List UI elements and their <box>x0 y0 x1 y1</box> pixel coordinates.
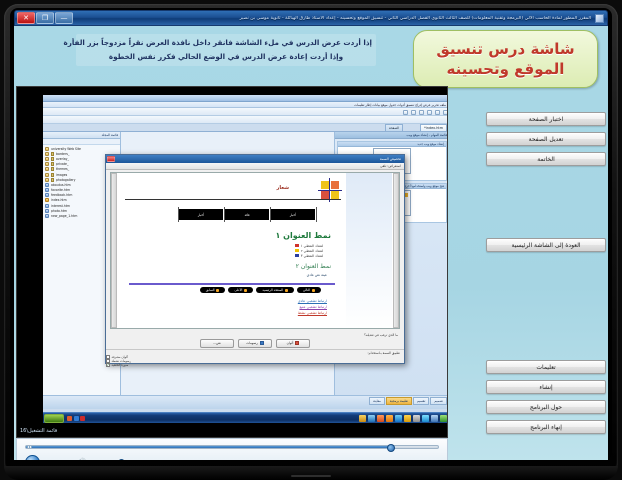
preview-content: شعار أخبار قائد أخبار نم <box>119 173 345 328</box>
html-file-icon <box>45 183 49 187</box>
tray-icon[interactable] <box>404 415 411 422</box>
tray-icon[interactable] <box>413 415 420 422</box>
tray-icon[interactable] <box>377 415 384 422</box>
app-root: ✕ ❐ — المقرر المطور لمادة الحاسب الآلي (… <box>0 0 622 480</box>
pill-nav-item[interactable]: السابق <box>200 287 226 293</box>
quick-launch-bar <box>67 416 85 421</box>
folder-icon <box>45 178 49 182</box>
file-name: university Web Site <box>51 147 81 151</box>
logo-text: شعار <box>277 185 290 191</box>
toolbar-icon[interactable] <box>443 110 448 115</box>
pill-label: الأعلى <box>234 288 242 292</box>
folder-icon <box>45 167 49 171</box>
mute-icon[interactable]: 🔊 <box>78 459 87 460</box>
lock-icon <box>51 173 54 177</box>
toolbar-icon[interactable] <box>435 110 440 115</box>
file-name: interest.htm <box>51 204 70 208</box>
checkbox-icon[interactable] <box>106 355 110 359</box>
nav-item[interactable]: قائد <box>225 209 269 220</box>
view-mode-tabs: تصميم تقسيم تعليمة برمجية معاينة <box>369 397 447 405</box>
file-name: photogallery <box>56 178 76 182</box>
seek-progress <box>26 446 389 448</box>
folder-icon <box>45 147 49 151</box>
quick-launch-icon[interactable] <box>80 416 85 421</box>
html-file-icon <box>45 188 49 192</box>
toolbar-icon[interactable] <box>403 110 408 115</box>
window-title: المقرر المطور لمادة الحاسب الآلي (البرمج… <box>73 16 595 21</box>
dialog-titlebar: تخصيص السمة <box>106 155 404 163</box>
window-titlebar: ✕ ❐ — المقرر المطور لمادة الحاسب الآلي (… <box>14 10 608 26</box>
quick-launch-icon[interactable] <box>74 416 79 421</box>
instructions-line-2: وإذا أردت إعادة عرض الدرس في الوضع الحال… <box>80 50 372 64</box>
home-page-icon <box>45 198 49 202</box>
device-notch <box>291 475 331 477</box>
tab-design[interactable]: تصميم <box>430 397 447 405</box>
theme-preview-area: شعار أخبار قائد أخبار نم <box>110 172 400 329</box>
file-name: photo.htm <box>51 209 67 213</box>
document-tab-other[interactable]: الصفحة <box>385 124 403 131</box>
file-name: new_page_1.htm <box>51 214 77 218</box>
tray-icon[interactable] <box>368 415 375 422</box>
file-name: aboutus.htm <box>51 183 71 187</box>
video-display[interactable]: ملف تحرير عرض إدراج تنسيق أدوات جدول موق… <box>16 86 448 438</box>
sidebar-group-bottom: تعليمات إنشاء حول البرنامج إنهاء البرنام… <box>486 360 606 440</box>
device-chin <box>4 466 618 480</box>
normal-text-sample: عينة نص عادي <box>307 273 327 277</box>
theme-dialog[interactable]: تخصيص السمة استعراض: تلقي <box>105 154 405 364</box>
close-icon[interactable]: ✕ <box>17 12 35 24</box>
conclusion-button[interactable]: الخاتمة <box>486 152 606 166</box>
text-button[interactable]: نص... <box>200 339 234 348</box>
folder-icon <box>45 173 49 177</box>
document-tab-active[interactable]: index.htm* <box>420 124 447 131</box>
task-pane-header: قائمة المهام - إنشاء موقع ويب <box>335 132 448 139</box>
maximize-icon[interactable]: ❐ <box>36 12 54 24</box>
html-file-icon <box>45 214 49 218</box>
file-name: images <box>56 173 67 177</box>
file-name: _borders <box>56 152 69 156</box>
tab-split[interactable]: تقسيم <box>413 397 429 405</box>
heading-2-sample: نمط العنوان ٢ <box>296 263 331 270</box>
lock-icon <box>51 178 54 182</box>
help-button[interactable]: تعليمات <box>486 360 606 374</box>
scrollbar-right[interactable] <box>393 173 399 328</box>
hyperlink-active[interactable]: ارتباط تشعبي نشط <box>298 311 327 317</box>
callout-line-2: الموقع وتحسينه <box>447 59 565 79</box>
control-sidebar: اختبار الصفحة تعديل الصفحة الخاتمة العود… <box>486 88 606 458</box>
pill-label: الصفحة الرئيسية <box>262 288 283 292</box>
file-name: _private <box>56 162 69 166</box>
seek-handle[interactable] <box>387 444 395 452</box>
pill-label: السابق <box>206 288 215 292</box>
bullet-label: لتعداد النقطي ٢ <box>301 249 323 253</box>
checkbox-icon-checked[interactable] <box>106 363 110 367</box>
preview-sidebar <box>346 173 392 328</box>
dialog-options: تطبيق السمة بـاستخدام: ألوان مشرقة رسوما… <box>106 349 404 363</box>
seek-slider[interactable] <box>25 445 439 449</box>
file-name: favorite.htm <box>51 188 70 192</box>
checkbox-background-image[interactable]: صورة الخلفية <box>106 363 400 367</box>
dialog-toolbar[interactable]: استعراض: تلقي <box>106 163 404 170</box>
inner-app-titlebar <box>43 95 448 102</box>
pill-label: التالي <box>303 288 310 292</box>
nav-item[interactable]: أخبار <box>179 209 223 220</box>
inner-app-body: قائمة المهام - إنشاء موقع ويب إنشاء موقع… <box>43 131 448 409</box>
tray-icon[interactable] <box>440 415 447 422</box>
dialog-button-row: ألوان رسومات نص... <box>106 337 404 349</box>
captured-desktop: ملف تحرير عرض إدراج تنسيق أدوات جدول موق… <box>43 95 448 423</box>
lock-icon <box>51 157 54 161</box>
lock-icon <box>51 167 54 171</box>
toolbar-icon[interactable] <box>427 110 432 115</box>
tab-code[interactable]: تعليمة برمجية <box>386 397 412 405</box>
lock-icon <box>51 162 54 166</box>
tray-icon[interactable] <box>395 415 402 422</box>
html-file-icon <box>45 193 49 197</box>
lock-icon <box>51 152 54 156</box>
page-canvas: إذا أردت عرض الدرس في ملء الشاشة فانقر د… <box>14 26 608 460</box>
minimize-icon[interactable]: — <box>55 12 73 24</box>
inner-app-toolbar-1[interactable] <box>43 108 448 116</box>
tray-icon[interactable] <box>359 415 366 422</box>
instructions-line-1: إذا أردت عرض الدرس في ملء الشاشة فانقر د… <box>80 36 372 50</box>
back-to-main-screen-button[interactable]: العودة إلى الشاشة الرئيسية <box>486 238 606 252</box>
file-name: feedback.htm <box>51 193 72 197</box>
app-icon <box>595 14 604 23</box>
folder-icon <box>45 162 49 166</box>
hyperlink-samples: ارتباط تشعبي عادي ارتباط تشعبي متبع ارتب… <box>298 299 327 317</box>
bullet-row: لتعداد النقطي ٣ <box>295 253 323 258</box>
play-pause-button[interactable]: ⏸ <box>25 455 40 460</box>
pill-nav-item[interactable]: التالي <box>297 287 321 293</box>
toolbar-icon[interactable] <box>419 110 424 115</box>
divider-rule <box>129 283 335 285</box>
pill-nav-item[interactable]: الصفحة الرئيسية <box>256 287 294 293</box>
html-file-icon <box>45 204 49 208</box>
bullet-samples: لتعداد النقطي ١ لتعداد النقطي ٢ لتعداد ا… <box>295 243 323 258</box>
exit-button[interactable]: إنهاء البرنامج <box>486 420 606 434</box>
inner-app-toolbar-2[interactable] <box>43 116 448 124</box>
scrollbar-left[interactable] <box>111 173 117 328</box>
volume-handle[interactable] <box>118 459 125 461</box>
file-name: _overlay <box>56 157 69 161</box>
seek-start-marker <box>27 446 32 448</box>
tray-icon[interactable] <box>422 415 429 422</box>
preview-pill-navbar: التالي الصفحة الرئيسية الأعلى السابق <box>200 287 321 293</box>
task-pane-section-title: إنشاء موقع ويب جديد <box>338 142 446 147</box>
playlist-label: قائمة التشغيل\16 <box>20 428 57 434</box>
file-name: index.htm <box>51 198 67 202</box>
dialog-title: تخصيص السمة <box>116 157 403 161</box>
create-button[interactable]: إنشاء <box>486 380 606 394</box>
logo-placeholder-icon <box>321 181 339 199</box>
pill-nav-item[interactable]: الأعلى <box>228 287 253 293</box>
sidebar-group-top: اختبار الصفحة تعديل الصفحة الخاتمة <box>486 112 606 172</box>
colors-button[interactable]: ألوان <box>276 339 310 348</box>
test-page-button[interactable]: اختبار الصفحة <box>486 112 606 126</box>
tray-icon[interactable] <box>431 415 438 422</box>
folder-icon <box>45 157 49 161</box>
tray-icon[interactable] <box>386 415 393 422</box>
system-tray <box>359 415 448 422</box>
windows-taskbar <box>43 412 448 423</box>
transport-controls: ⏸ ⏮ ⏭ 🔊 <box>25 455 154 460</box>
folder-list-header: قائمة المجلد <box>43 132 120 139</box>
tab-preview[interactable]: معاينة <box>369 397 385 405</box>
file-name: _themes <box>56 167 69 171</box>
bullet-icon <box>295 249 299 253</box>
previous-button[interactable]: ⏮ <box>55 459 61 460</box>
html-file-icon <box>45 209 49 213</box>
bullet-icon <box>295 254 299 258</box>
quick-launch-icon[interactable] <box>67 416 72 421</box>
start-button[interactable] <box>44 414 64 423</box>
sidebar-group-mid: العودة إلى الشاشة الرئيسية <box>486 238 606 258</box>
graphics-button[interactable]: رسومات <box>238 339 272 348</box>
bullet-icon <box>295 244 299 248</box>
nav-item[interactable]: أخبار <box>271 209 315 220</box>
header-rule <box>125 199 341 200</box>
toolbar-icon[interactable] <box>411 110 416 115</box>
about-button[interactable]: حول البرنامج <box>486 400 606 414</box>
instructions-block: إذا أردت عرض الدرس في ملء الشاشة فانقر د… <box>76 34 376 66</box>
media-player-controls: ⏸ ⏮ ⏭ 🔊 <box>16 438 448 460</box>
heading-1-sample: نمط العنوان ١ <box>275 231 331 240</box>
callout-line-1: شاشة درس تنسيق <box>436 39 574 59</box>
inner-app-statusbar: تصميم تقسيم تعليمة برمجية معاينة <box>43 395 448 409</box>
window-controls: ✕ ❐ — <box>17 12 73 24</box>
lesson-title-callout: شاشة درس تنسيق الموقع وتحسينه <box>413 30 598 88</box>
dialog-close-icon[interactable] <box>107 156 115 162</box>
bullet-label: لتعداد النقطي ٣ <box>301 254 323 258</box>
bullet-label: لتعداد النقطي ١ <box>301 244 323 248</box>
preview-navbar: أخبار قائد أخبار <box>179 209 315 220</box>
edit-page-button[interactable]: تعديل الصفحة <box>486 132 606 146</box>
next-button[interactable]: ⏭ <box>66 459 72 460</box>
folder-icon <box>45 152 49 156</box>
